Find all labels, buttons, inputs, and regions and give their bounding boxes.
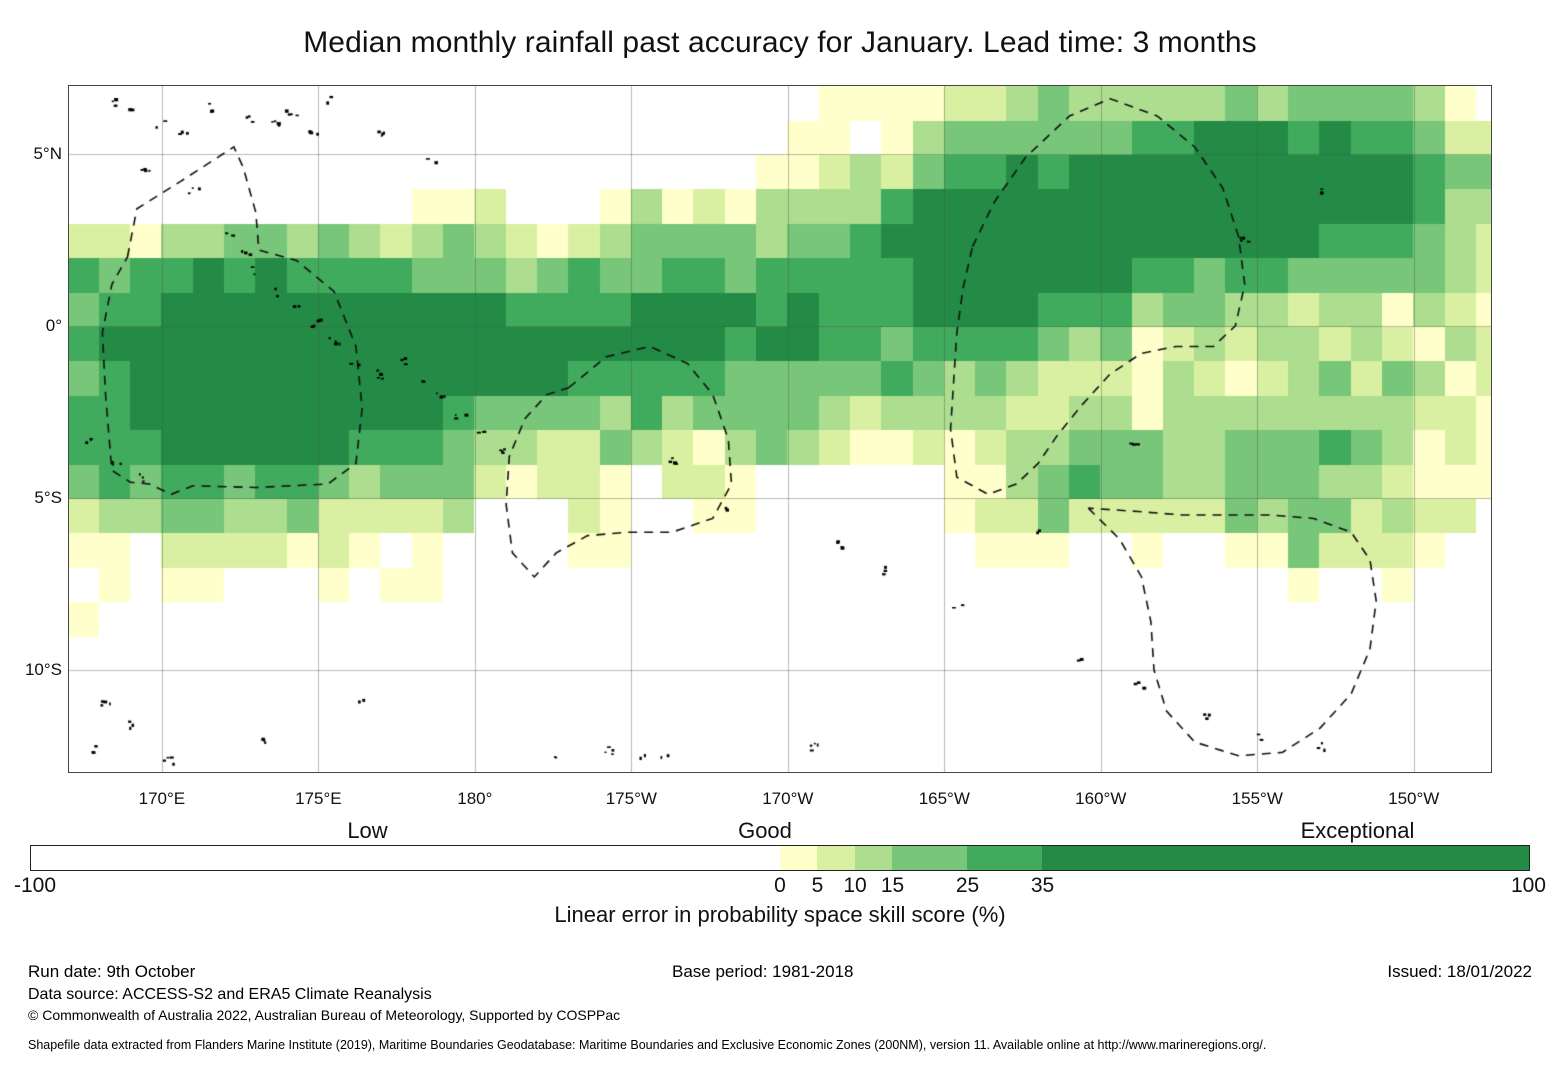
page-title: Median monthly rainfall past accuracy fo… — [0, 26, 1560, 60]
footer-run-date: Run date: 9th October — [28, 962, 195, 982]
colorbar-tick-label: 10 — [843, 874, 866, 898]
x-tick-label: 155°W — [1232, 789, 1283, 809]
colorbar-tick-label: -100 — [14, 874, 56, 898]
x-tick-label: 165°W — [919, 789, 970, 809]
y-tick-label: 5°N — [33, 144, 62, 164]
colorbar-category-label: Low — [347, 818, 387, 844]
colorbar-tick-label: 15 — [881, 874, 904, 898]
x-tick-label: 175°W — [606, 789, 657, 809]
colorbar-segment — [967, 846, 1042, 870]
footer-data-source: Data source: ACCESS-S2 and ERA5 Climate … — [28, 986, 432, 1004]
x-tick-label: 160°W — [1075, 789, 1126, 809]
climate-map-figure: Median monthly rainfall past accuracy fo… — [0, 0, 1560, 1065]
colorbar-tick-label: 25 — [956, 874, 979, 898]
colorbar-axis-label: Linear error in probability space skill … — [0, 902, 1560, 928]
colorbar-category-label: Exceptional — [1301, 818, 1415, 844]
colorbar — [30, 845, 1530, 871]
footer-issued: Issued: 18/01/2022 — [1387, 962, 1532, 982]
colorbar-segment — [855, 846, 892, 870]
map-panel — [68, 85, 1492, 773]
colorbar-category-label: Good — [738, 818, 792, 844]
y-tick-label: 5°S — [34, 488, 62, 508]
colorbar-segment — [1042, 846, 1529, 870]
footer-shapefile-attribution: Shapefile data extracted from Flanders M… — [28, 1038, 1266, 1052]
colorbar-tick-label: 35 — [1031, 874, 1054, 898]
x-tick-label: 150°W — [1388, 789, 1439, 809]
colorbar-tick-label: 100 — [1511, 874, 1546, 898]
colorbar-segment — [817, 846, 854, 870]
colorbar-segment — [780, 846, 817, 870]
colorbar-tick-label: 0 — [774, 874, 786, 898]
y-tick-label: 0° — [46, 316, 62, 336]
colorbar-segment — [31, 846, 780, 870]
footer-copyright: © Commonwealth of Australia 2022, Austra… — [28, 1007, 620, 1023]
y-tick-label: 10°S — [25, 660, 62, 680]
x-tick-label: 175°E — [295, 789, 342, 809]
skill-score-heatmap — [68, 85, 1492, 773]
footer-base-period: Base period: 1981-2018 — [672, 962, 853, 982]
x-tick-label: 170°E — [139, 789, 186, 809]
x-tick-label: 180° — [457, 789, 492, 809]
colorbar-tick-label: 5 — [812, 874, 824, 898]
x-tick-label: 170°W — [762, 789, 813, 809]
colorbar-segment — [892, 846, 967, 870]
